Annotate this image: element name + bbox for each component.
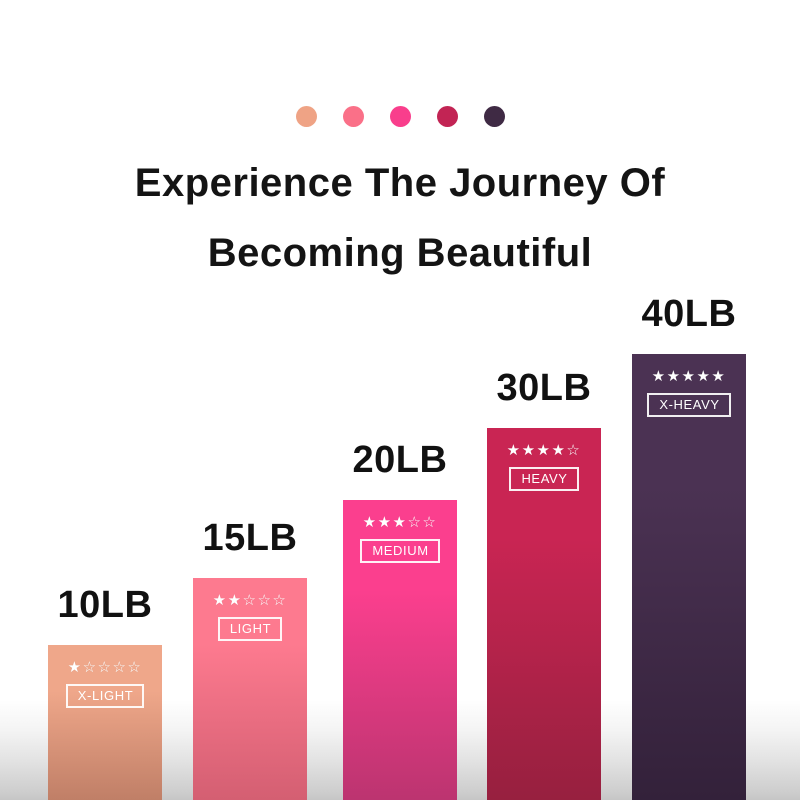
star-rating-icon: ★★★★★ <box>632 368 746 386</box>
bar-badge: ★★★☆☆MEDIUM <box>343 514 457 563</box>
bar-column[interactable]: ★★★☆☆MEDIUM <box>343 500 457 800</box>
bar-column[interactable]: ★★☆☆☆LIGHT <box>193 578 307 800</box>
bar-badge: ★★☆☆☆LIGHT <box>193 592 307 641</box>
bar-group[interactable]: 20LB★★★☆☆MEDIUM <box>343 440 457 800</box>
bar-column[interactable]: ★☆☆☆☆X-LIGHT <box>48 645 162 800</box>
bar-chart: 10LB★☆☆☆☆X-LIGHT15LB★★☆☆☆LIGHT20LB★★★☆☆M… <box>0 0 800 800</box>
strength-chart-poster: Experience The Journey Of Becoming Beaut… <box>0 0 800 800</box>
bar-badge: ★★★★☆HEAVY <box>487 442 601 491</box>
bar-group[interactable]: 30LB★★★★☆HEAVY <box>487 368 601 800</box>
bar-level-label: HEAVY <box>509 467 578 491</box>
bar-level-label: X-HEAVY <box>647 393 730 417</box>
bar-weight-label: 40LB <box>632 294 746 334</box>
bar-group[interactable]: 10LB★☆☆☆☆X-LIGHT <box>48 585 162 800</box>
bar-level-label: X-LIGHT <box>66 684 144 708</box>
bar-badge: ★★★★★X-HEAVY <box>632 368 746 417</box>
bar-weight-label: 15LB <box>193 518 307 558</box>
bar-badge: ★☆☆☆☆X-LIGHT <box>48 659 162 708</box>
star-rating-icon: ★★★★☆ <box>487 442 601 460</box>
bar-group[interactable]: 40LB★★★★★X-HEAVY <box>632 294 746 800</box>
bar-column[interactable]: ★★★★☆HEAVY <box>487 428 601 800</box>
bar-weight-label: 30LB <box>487 368 601 408</box>
star-rating-icon: ★★☆☆☆ <box>193 592 307 610</box>
star-rating-icon: ★★★☆☆ <box>343 514 457 532</box>
bar-group[interactable]: 15LB★★☆☆☆LIGHT <box>193 518 307 800</box>
bar-level-label: LIGHT <box>218 617 282 641</box>
bar-level-label: MEDIUM <box>360 539 439 563</box>
star-rating-icon: ★☆☆☆☆ <box>48 659 162 677</box>
bar-weight-label: 20LB <box>343 440 457 480</box>
bar-weight-label: 10LB <box>48 585 162 625</box>
bar-column[interactable]: ★★★★★X-HEAVY <box>632 354 746 800</box>
